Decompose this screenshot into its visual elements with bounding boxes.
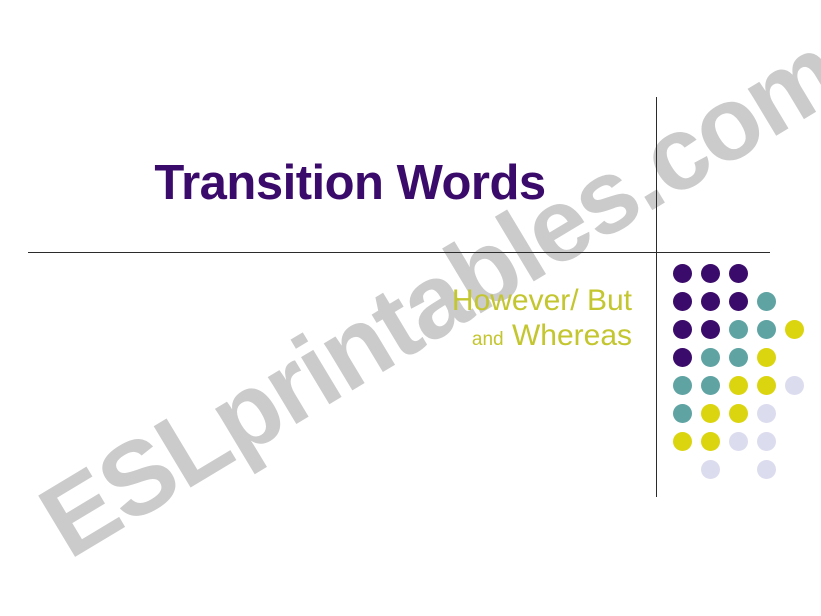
grid-dot-yellow <box>757 376 776 395</box>
grid-dot-pale <box>757 432 776 451</box>
grid-dot-yellow <box>757 348 776 367</box>
subtitle-line-2: and Whereas <box>200 318 632 353</box>
grid-dot-purple <box>729 292 748 311</box>
grid-dot-teal <box>673 404 692 423</box>
grid-dot-purple <box>673 320 692 339</box>
grid-dot-purple <box>729 264 748 283</box>
grid-dot-yellow <box>701 404 720 423</box>
grid-dot-pale <box>757 460 776 479</box>
grid-dot-purple <box>673 292 692 311</box>
grid-dot-yellow <box>729 404 748 423</box>
grid-dot-purple <box>701 264 720 283</box>
grid-dot-pale <box>701 460 720 479</box>
grid-dot-teal <box>757 292 776 311</box>
grid-dot-purple <box>673 348 692 367</box>
grid-dot-pale <box>729 432 748 451</box>
grid-dot-purple <box>701 292 720 311</box>
grid-dot-yellow <box>785 320 804 339</box>
grid-dot-purple <box>673 264 692 283</box>
grid-dot-teal <box>757 320 776 339</box>
subtitle-line-2-main: Whereas <box>512 319 632 352</box>
grid-dot-teal <box>701 376 720 395</box>
horizontal-divider-line <box>28 252 770 253</box>
grid-dot-yellow <box>729 376 748 395</box>
decorative-dot-grid <box>655 258 821 473</box>
grid-dot-teal <box>729 348 748 367</box>
subtitle-line-2-prefix: and <box>472 329 504 350</box>
grid-dot-purple <box>701 320 720 339</box>
slide-canvas: ESLprintables.com Transition Words Howev… <box>0 0 821 616</box>
grid-dot-yellow <box>673 432 692 451</box>
grid-dot-teal <box>729 320 748 339</box>
subtitle-line-1: However/ But <box>200 283 632 318</box>
grid-dot-teal <box>673 376 692 395</box>
grid-dot-yellow <box>701 432 720 451</box>
slide-subtitle: However/ But and Whereas <box>200 283 632 354</box>
grid-dot-pale <box>757 404 776 423</box>
slide-title: Transition Words <box>60 158 640 209</box>
grid-dot-teal <box>701 348 720 367</box>
grid-dot-pale <box>785 376 804 395</box>
